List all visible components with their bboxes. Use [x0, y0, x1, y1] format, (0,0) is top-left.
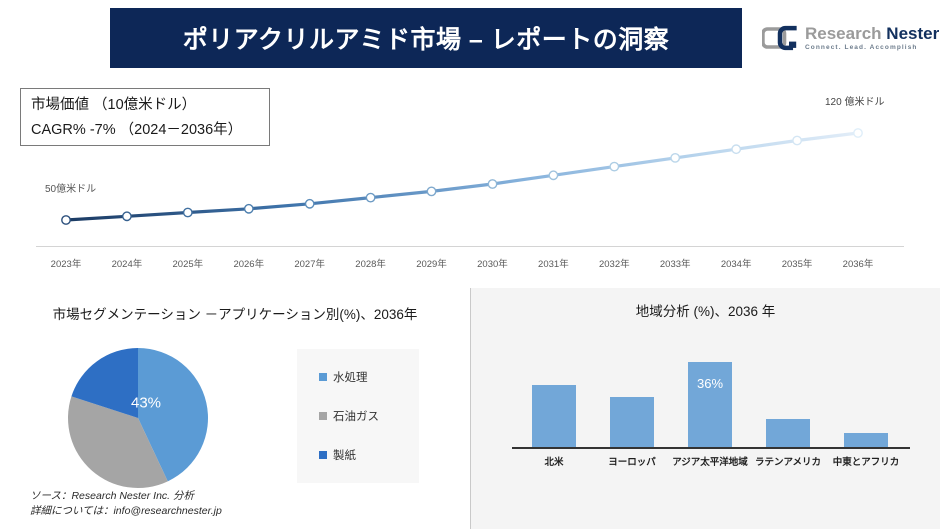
header-banner: ポリアクリルアミド市場 – レポートの洞察: [110, 8, 742, 68]
line-data-point: [366, 193, 374, 201]
research-nester-logo: Research Nester Connect. Lead. Accomplis…: [762, 18, 932, 58]
bar-1[interactable]: [610, 397, 654, 447]
line-x-tick-6: 2029年: [416, 256, 447, 270]
bar-0[interactable]: [532, 385, 576, 447]
legend-label-0: 水処理: [333, 369, 368, 385]
line-data-point: [62, 216, 70, 224]
bar-chart-x-axis-labels: 北米ヨーロッパアジア太平洋地域ラテンアメリカ中東とアフリカ: [515, 454, 905, 470]
pie-chart-title: 市場セグメンテーション －アプリケーション別(%)、2036年: [20, 305, 450, 325]
logo-wordmark: Research Nester Connect. Lead. Accomplis…: [805, 25, 939, 52]
line-x-tick-8: 2031年: [538, 256, 569, 270]
bar-x-tick-4: 中東とアフリカ: [833, 454, 900, 468]
legend-item-0[interactable]: 水処理: [319, 369, 419, 385]
line-data-point: [793, 136, 801, 144]
line-x-tick-2: 2025年: [173, 256, 204, 270]
logo-word-nester: Nester: [886, 24, 939, 43]
legend-label-1: 石油ガス: [333, 408, 379, 424]
line-data-point: [854, 129, 862, 137]
bar-3[interactable]: [766, 419, 810, 448]
market-value-line: 市場価値 （10億米ドル）: [31, 93, 259, 118]
line-chart-x-axis-labels: 2023年2024年2025年2026年2027年2028年2029年2030年…: [36, 256, 904, 272]
link-chain-icon: [762, 25, 798, 51]
logo-tagline: Connect. Lead. Accomplish: [805, 45, 939, 52]
panel-divider: [470, 288, 471, 529]
line-chart-axis: [36, 246, 904, 247]
line-x-tick-12: 2035年: [782, 256, 813, 270]
line-x-tick-5: 2028年: [355, 256, 386, 270]
line-x-tick-10: 2033年: [660, 256, 691, 270]
line-x-tick-4: 2027年: [294, 256, 325, 270]
legend-swatch-water-treatment: [319, 373, 327, 381]
bar-chart-title: 地域分析 (%)、2036 年: [471, 300, 940, 320]
line-x-tick-0: 2023年: [51, 256, 82, 270]
line-x-tick-9: 2032年: [599, 256, 630, 270]
bar-data-label: 36%: [697, 376, 723, 391]
bar-4[interactable]: [844, 433, 888, 447]
line-x-tick-1: 2024年: [112, 256, 143, 270]
line-data-point: [427, 187, 435, 195]
line-data-point: [184, 208, 192, 216]
line-end-annotation: 120 億米ドル: [825, 93, 884, 108]
line-data-point: [671, 154, 679, 162]
source-line-2: 詳細については：info@researchnester.jp: [30, 504, 222, 519]
line-x-tick-11: 2034年: [721, 256, 752, 270]
source-line-1: ソース：Research Nester Inc. 分析: [30, 489, 222, 504]
line-data-point: [306, 200, 314, 208]
bar-x-tick-1: ヨーロッパ: [608, 454, 656, 468]
pie-chart-legend: 水処理 石油ガス 製紙: [297, 349, 419, 483]
line-x-tick-13: 2036年: [843, 256, 874, 270]
legend-item-1[interactable]: 石油ガス: [319, 408, 419, 424]
line-data-point: [549, 171, 557, 179]
legend-swatch-paper: [319, 451, 327, 459]
bar-2[interactable]: [688, 362, 732, 448]
line-start-annotation: 50億米ドル: [45, 180, 96, 195]
legend-label-2: 製紙: [333, 447, 356, 463]
line-data-point: [610, 162, 618, 170]
legend-swatch-oil-gas: [319, 412, 327, 420]
bar-chart-baseline: [512, 447, 910, 449]
logo-word-research: Research: [805, 24, 882, 43]
line-data-point: [488, 180, 496, 188]
line-data-point: [123, 212, 131, 220]
line-x-tick-3: 2026年: [233, 256, 264, 270]
source-note: ソース：Research Nester Inc. 分析 詳細については：info…: [30, 489, 222, 519]
cagr-line: CAGR% -7% （2024－2036年）: [31, 118, 259, 143]
line-data-point: [245, 205, 253, 213]
line-x-tick-7: 2030年: [477, 256, 508, 270]
regional-bar-chart: 36%: [515, 352, 905, 447]
pie-chart-svg: [66, 346, 210, 490]
bar-x-tick-3: ラテンアメリカ: [755, 454, 821, 468]
segmentation-pie-chart: [66, 346, 210, 490]
legend-item-2[interactable]: 製紙: [319, 447, 419, 463]
page-title: ポリアクリルアミド市場 – レポートの洞察: [183, 20, 670, 56]
pie-data-label: 43%: [131, 395, 161, 412]
line-data-point: [732, 145, 740, 153]
market-value-callout: 市場価値 （10億米ドル） CAGR% -7% （2024－2036年）: [20, 88, 270, 146]
bar-x-tick-2: アジア太平洋地域: [672, 454, 748, 468]
bar-x-tick-0: 北米: [544, 454, 563, 468]
